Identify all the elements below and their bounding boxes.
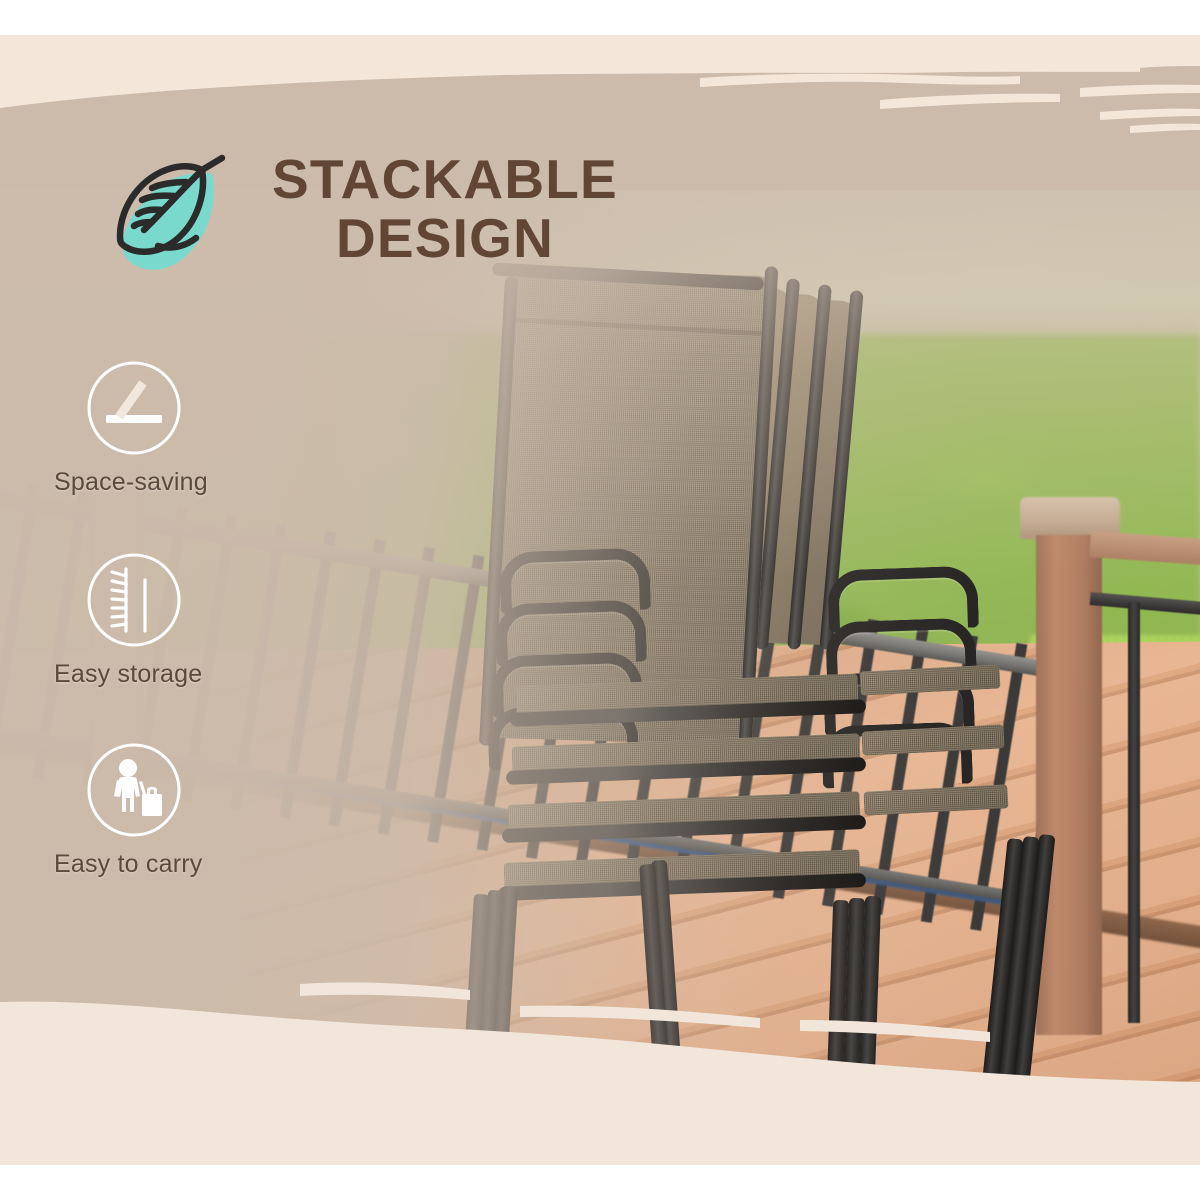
headline-line-1: STACKABLE bbox=[272, 148, 618, 210]
feature-easy-storage: Easy storage bbox=[48, 552, 278, 689]
person-carrying-bag-icon bbox=[86, 742, 182, 838]
feature-label-space-saving: Space-saving bbox=[48, 468, 278, 497]
headline-line-2: DESIGN bbox=[230, 209, 660, 268]
chair-seat-rear-3 bbox=[863, 784, 1008, 816]
leaf-icon bbox=[98, 152, 238, 288]
feature-easy-to-carry: Easy to carry bbox=[48, 742, 278, 879]
ruler-measure-icon bbox=[86, 552, 182, 648]
frame-white-top bbox=[0, 0, 1200, 35]
stacked-chair-profile-icon bbox=[86, 360, 182, 456]
frame-white-bottom bbox=[0, 1165, 1200, 1200]
feature-label-easy-storage: Easy storage bbox=[48, 660, 278, 689]
page-title: STACKABLE DESIGN bbox=[230, 150, 660, 268]
product-feature-banner: STACKABLE DESIGN Space-saving bbox=[0, 0, 1200, 1200]
feature-label-easy-to-carry: Easy to carry bbox=[48, 850, 278, 879]
feature-space-saving: Space-saving bbox=[48, 360, 278, 497]
bottom-brush-stroke bbox=[0, 950, 1200, 1180]
